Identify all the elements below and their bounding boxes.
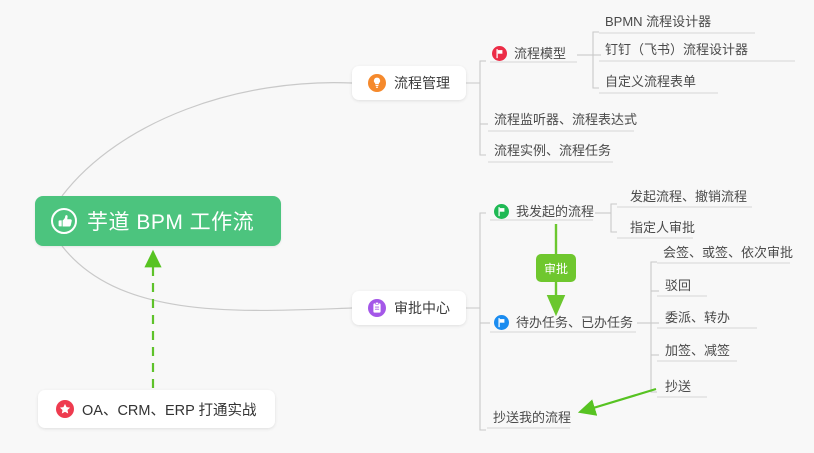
branch-label-approval-center: 审批中心 (394, 298, 450, 318)
leaf-dingtalk-feishu-designer[interactable]: 钉钉（飞书）流程设计器 (599, 41, 754, 62)
root-node[interactable]: 芋道 BPM 工作流 (35, 196, 281, 246)
mindmap-canvas: 芋道 BPM 工作流 流程管理 审批中心 (0, 0, 814, 453)
leaf-todo-done-tasks[interactable]: 待办任务、已办任务 (494, 314, 639, 335)
leaf-process-model[interactable]: 流程模型 (492, 45, 572, 66)
leaf-label-cc-to-me-process: 抄送我的流程 (493, 410, 571, 425)
flag-green-icon (494, 204, 509, 219)
flag-red-icon (492, 46, 507, 61)
leaf-reject[interactable]: 驳回 (659, 277, 697, 298)
leaf-label-process-model: 流程模型 (514, 45, 566, 62)
connector-root-to-approval-center (62, 246, 352, 310)
leaf-label-cc: 抄送 (665, 379, 691, 394)
leaf-label-process-listener-expression: 流程监听器、流程表达式 (494, 112, 637, 127)
leaf-label-start-cancel-process: 发起流程、撤销流程 (630, 189, 747, 204)
leaf-label-delegate-transfer: 委派、转办 (665, 310, 730, 325)
root-label: 芋道 BPM 工作流 (87, 206, 254, 236)
leaf-start-cancel-process[interactable]: 发起流程、撤销流程 (624, 188, 753, 209)
arrow-cc-to-cc-to-me (580, 389, 656, 412)
leaf-label-todo-done-tasks: 待办任务、已办任务 (516, 314, 633, 331)
clipboard-icon (368, 299, 386, 317)
leaf-cc[interactable]: 抄送 (659, 378, 697, 399)
leaf-cc-to-me-process[interactable]: 抄送我的流程 (487, 409, 577, 430)
leaf-label-custom-process-form: 自定义流程表单 (605, 74, 696, 89)
branch-label-process-management: 流程管理 (394, 73, 450, 93)
connector-root-to-process-management (62, 83, 352, 196)
integration-node-label: OA、CRM、ERP 打通实战 (82, 399, 257, 420)
flag-blue-icon (494, 315, 509, 330)
leaf-process-instance-task[interactable]: 流程实例、流程任务 (488, 142, 617, 163)
leaf-bpmn-designer[interactable]: BPMN 流程设计器 (599, 13, 717, 34)
leaf-delegate-transfer[interactable]: 委派、转办 (659, 309, 736, 330)
branch-node-approval-center[interactable]: 审批中心 (352, 291, 466, 325)
thumbs-up-icon (51, 208, 77, 234)
connector-todo-spine (651, 262, 657, 392)
leaf-countersign-orsign-sequential[interactable]: 会签、或签、依次审批 (657, 244, 799, 265)
approval-badge[interactable]: 审批 (536, 254, 576, 282)
leaf-my-initiated-process[interactable]: 我发起的流程 (494, 203, 600, 224)
leaf-process-listener-expression[interactable]: 流程监听器、流程表达式 (488, 111, 643, 132)
leaf-label-reject: 驳回 (665, 278, 691, 293)
branch-node-process-management[interactable]: 流程管理 (352, 66, 466, 100)
leaf-label-dingtalk-feishu-designer: 钉钉（飞书）流程设计器 (605, 42, 748, 57)
approval-badge-label: 审批 (544, 260, 568, 277)
leaf-label-add-remove-sign: 加签、减签 (665, 343, 730, 358)
leaf-label-designated-approver: 指定人审批 (630, 220, 695, 235)
connector-approval-center-spine (480, 213, 486, 430)
leaf-designated-approver[interactable]: 指定人审批 (624, 219, 701, 240)
connector-process-management-spine (480, 61, 486, 155)
integration-node[interactable]: OA、CRM、ERP 打通实战 (38, 390, 275, 428)
leaf-label-my-initiated-process: 我发起的流程 (516, 203, 594, 220)
star-icon (56, 400, 74, 418)
leaf-label-process-instance-task: 流程实例、流程任务 (494, 143, 611, 158)
leaf-add-remove-sign[interactable]: 加签、减签 (659, 342, 736, 363)
leaf-label-bpmn-designer: BPMN 流程设计器 (605, 14, 711, 29)
connector-my-initiated-spine (611, 204, 617, 232)
lightbulb-icon (368, 74, 386, 92)
leaf-label-countersign-orsign-sequential: 会签、或签、依次审批 (663, 245, 793, 260)
leaf-custom-process-form[interactable]: 自定义流程表单 (599, 73, 702, 94)
